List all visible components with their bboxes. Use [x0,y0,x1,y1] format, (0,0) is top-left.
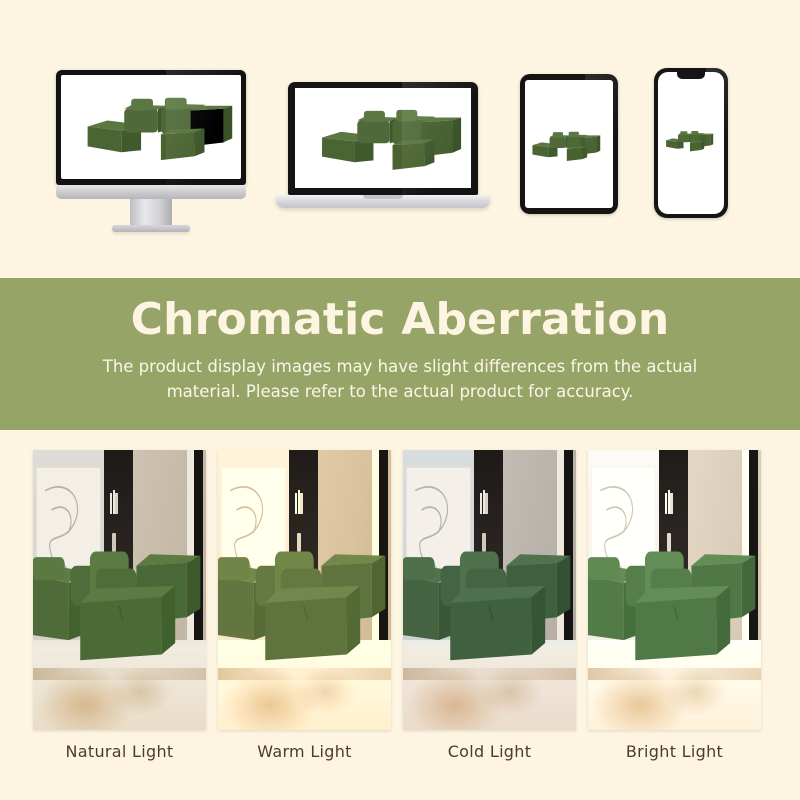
room-scene [588,450,761,730]
laptop-trackpad-notch [363,195,403,199]
laptop-base [276,195,490,208]
tablet-frame [520,74,618,214]
lighting-panel-natural[interactable] [33,450,206,730]
room-scene [218,450,391,730]
monitor-bezel [56,70,246,185]
panel-caption-natural: Natural Light [33,742,206,761]
rug-pattern [588,668,761,679]
phone-screen [658,72,724,214]
panel-caption-warm: Warm Light [218,742,391,761]
sofa-photo [588,540,761,669]
sofa-photo [218,540,391,669]
room-scene [33,450,206,730]
sofa-illustration [525,80,613,208]
monitor-stand-foot [112,225,190,232]
lighting-comparison-gallery: Natural Light Warm Light Cold Light Brig… [0,430,800,800]
laptop-screen [295,88,471,188]
chromatic-aberration-banner: Chromatic Aberration The product display… [0,278,800,430]
lighting-panel-cold[interactable] [403,450,576,730]
lighting-panel-bright[interactable] [588,450,761,730]
laptop-lid [288,82,478,195]
phone-frame [654,68,728,218]
rug-pattern [33,668,206,679]
banner-title: Chromatic Aberration [131,294,670,346]
desktop-monitor-icon [56,70,246,185]
monitor-stand-stem [130,199,172,227]
sofa-photo [403,540,576,669]
tablet-icon [520,74,618,214]
rug-pattern [218,668,391,679]
tablet-screen [525,80,613,208]
sofa-photo [33,540,206,669]
banner-description: The product display images may have slig… [80,354,720,404]
sofa-illustration [61,75,241,179]
monitor-screen [61,75,241,179]
device-preview-strip [0,0,800,278]
room-scene [403,450,576,730]
phone-notch [677,72,705,79]
panel-caption-bright: Bright Light [588,742,761,761]
smartphone-icon [654,68,728,218]
lighting-panel-warm[interactable] [218,450,391,730]
monitor-neck [56,185,246,199]
sofa-illustration [295,88,471,188]
rug-pattern [403,668,576,679]
sofa-illustration [658,72,724,214]
panel-caption-cold: Cold Light [403,742,576,761]
product-infographic-page: Chromatic Aberration The product display… [0,0,800,800]
laptop-icon [288,82,478,195]
